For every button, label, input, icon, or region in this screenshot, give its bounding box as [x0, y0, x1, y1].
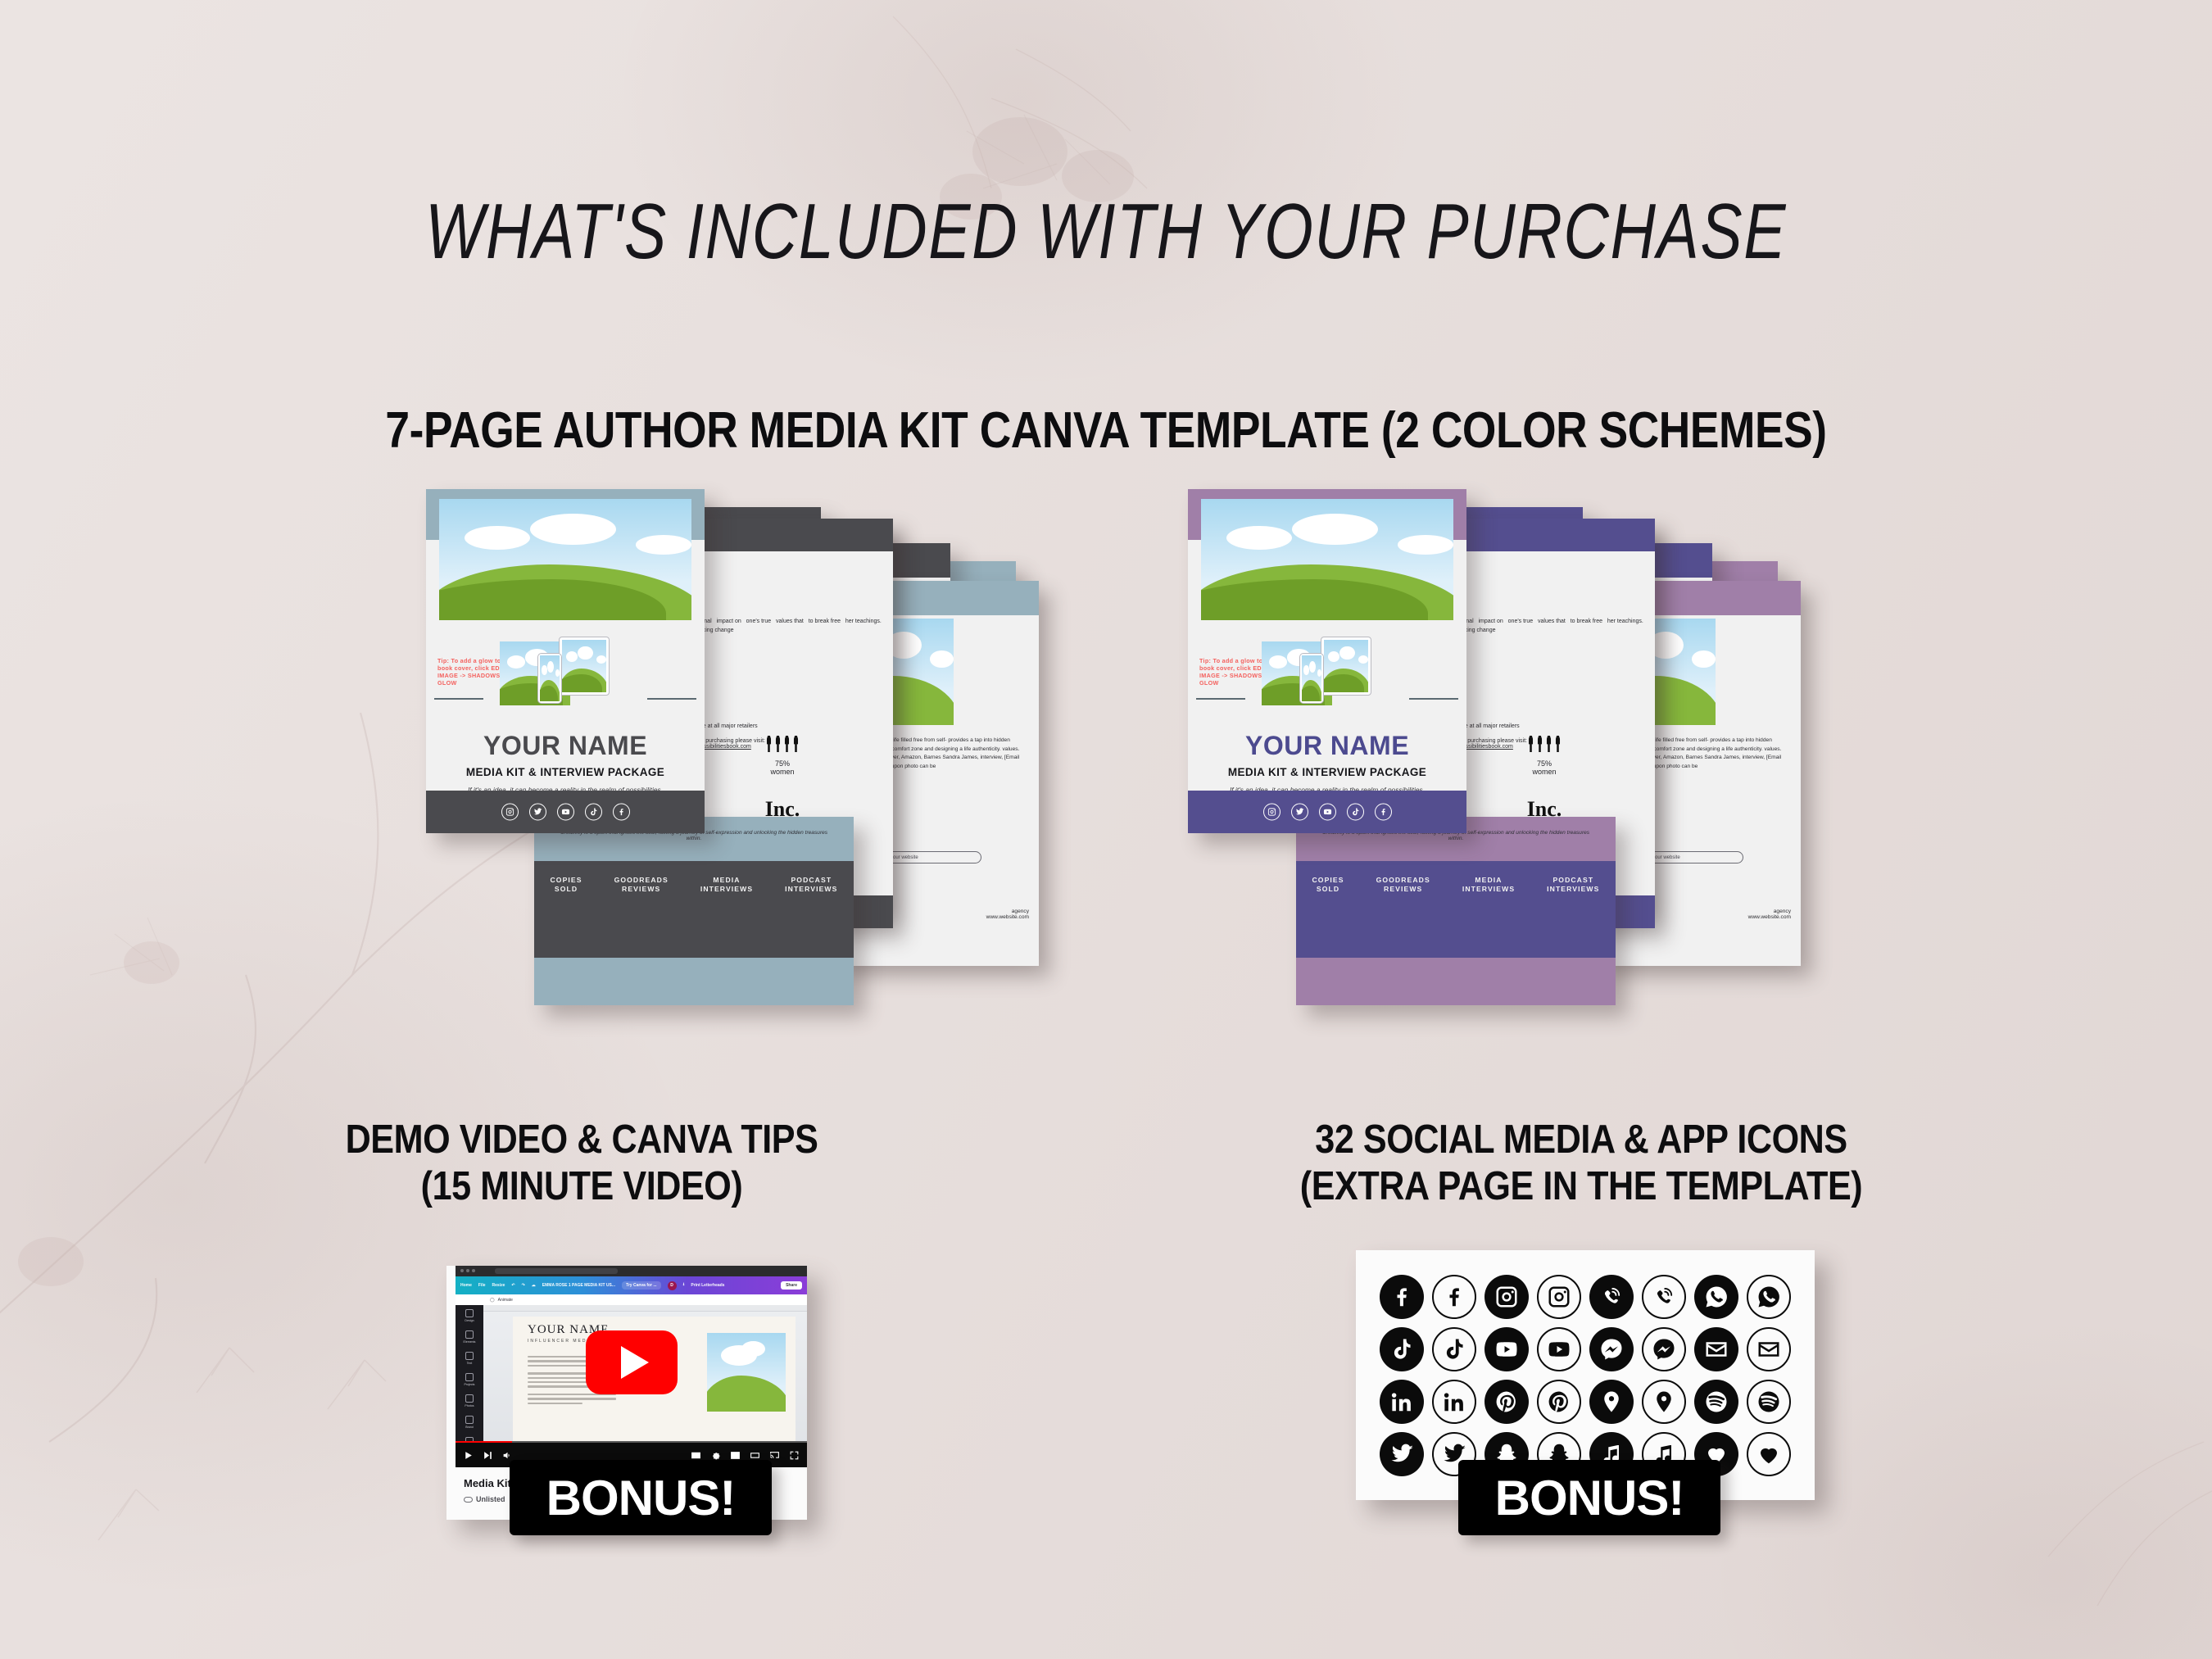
icons-heading-line2: (EXTRA PAGE IN THE TEMPLATE): [1156, 1163, 2006, 1210]
social-links-row: [426, 804, 705, 821]
social-links-row: [1188, 804, 1466, 821]
location-pin-icon[interactable]: [1586, 1376, 1637, 1427]
canva-sidebar-item[interactable]: Projects: [456, 1369, 483, 1390]
spotify-icon[interactable]: [1691, 1376, 1742, 1427]
page-title: WHAT'S INCLUDED WITH YOUR PURCHASE: [221, 193, 1991, 271]
template-cover-page[interactable]: Tip: To add a glow to your book cover, c…: [426, 489, 705, 833]
video-visibility-label: Unlisted: [476, 1495, 505, 1503]
linkedin-icon[interactable]: [1376, 1376, 1427, 1427]
canva-animate-icon: ◯: [490, 1298, 495, 1303]
demo-video-section-heading: DEMO VIDEO & CANVA TIPS (15 MINUTE VIDEO…: [200, 1117, 964, 1210]
canva-animate-bar: ◯ Animate: [456, 1294, 807, 1305]
demographic-figures: [765, 736, 800, 752]
twitter-icon[interactable]: [1376, 1429, 1427, 1480]
messenger-icon[interactable]: [1639, 1324, 1689, 1375]
fullscreen-icon: [789, 1450, 800, 1461]
stat-item: GOODREADSREVIEWS: [1376, 876, 1430, 894]
viber-icon[interactable]: [1639, 1271, 1689, 1322]
canva-animate-label[interactable]: Animate: [498, 1298, 513, 1303]
instagram-icon[interactable]: [501, 804, 519, 821]
stat-item: COPIESSOLD: [551, 876, 582, 894]
canva-file-button[interactable]: File: [478, 1283, 486, 1288]
landscape-image: [1324, 640, 1368, 692]
bonus-badge-video: BONUS!: [510, 1460, 772, 1535]
tiktok-icon[interactable]: [1376, 1324, 1427, 1375]
linkedin-icon[interactable]: [1429, 1376, 1480, 1427]
canva-toolbar: Home File Resize ↶ ↷ ☁ EMMA ROSE 1 PAGE …: [456, 1276, 807, 1294]
device-mockups: [1262, 637, 1393, 710]
canva-try-pro-button[interactable]: Try Canva for ...: [622, 1281, 661, 1290]
canva-undo-icon[interactable]: ↶: [511, 1283, 514, 1288]
stats-labels: COPIESSOLDGOODREADSREVIEWSMEDIAINTERVIEW…: [1296, 876, 1616, 894]
retailers-line: available at all major retailers: [683, 723, 882, 729]
landscape-image: [1302, 655, 1321, 701]
templates-section-heading: 7-PAGE AUTHOR MEDIA KIT CANVA TEMPLATE (…: [155, 406, 2057, 456]
email-icon[interactable]: [1743, 1324, 1794, 1375]
canva-sidebar-item[interactable]: Text: [456, 1348, 483, 1369]
canva-design-image: [707, 1333, 786, 1412]
cover-author-name: YOUR NAME: [426, 731, 705, 761]
template-stack-blue-grey[interactable]: ABOUT THE AUTHORis an influential author…: [426, 489, 1049, 1054]
press-body-text: of personal impact on one's true values …: [683, 617, 882, 635]
cast-icon: [769, 1450, 780, 1461]
youtube-icon[interactable]: [1319, 804, 1336, 821]
canva-ruler: [483, 1305, 807, 1312]
whatsapp-icon[interactable]: [1691, 1271, 1742, 1322]
canva-download-icon[interactable]: ⭳: [683, 1282, 685, 1289]
play-icon: [463, 1450, 474, 1461]
facebook-icon[interactable]: [613, 804, 630, 821]
facebook-icon[interactable]: [1429, 1271, 1480, 1322]
tiktok-icon[interactable]: [1347, 804, 1364, 821]
demographic-percent: 75%women: [672, 759, 893, 776]
browser-url-bar: [456, 1266, 807, 1276]
youtube-icon[interactable]: [557, 804, 574, 821]
landscape-image: [540, 655, 560, 701]
bonus-badge-icons: BONUS!: [1458, 1460, 1720, 1535]
miniplayer-icon: [730, 1450, 741, 1461]
stat-item: GOODREADSREVIEWS: [614, 876, 669, 894]
demo-video-heading-line2: (15 MINUTE VIDEO): [200, 1163, 964, 1210]
tiktok-icon[interactable]: [1429, 1324, 1480, 1375]
template-page-stats[interactable]: COPIESSOLDGOODREADSREVIEWSMEDIAINTERVIEW…: [534, 817, 854, 1005]
icon-grid: [1376, 1271, 1794, 1480]
instagram-icon[interactable]: [1534, 1271, 1584, 1322]
tiktok-icon[interactable]: [585, 804, 602, 821]
icons-heading-line1: 32 SOCIAL MEDIA & APP ICONS: [1156, 1117, 2006, 1163]
contact-block: agencywww.website.com: [986, 909, 1029, 920]
twitter-icon[interactable]: [1291, 804, 1308, 821]
cover-kit-line: MEDIA KIT & INTERVIEW PACKAGE: [1188, 766, 1466, 778]
demographic-percent: 75%women: [1434, 759, 1655, 776]
press-body-text: of personal impact on one's true values …: [1445, 617, 1643, 635]
instagram-icon[interactable]: [1263, 804, 1281, 821]
youtube-play-icon[interactable]: [586, 1330, 678, 1394]
volume-icon: [502, 1450, 513, 1461]
whatsapp-icon[interactable]: [1743, 1271, 1794, 1322]
stats-labels: COPIESSOLDGOODREADSREVIEWSMEDIAINTERVIEW…: [534, 876, 854, 894]
canva-print-label[interactable]: Print Letterheads: [691, 1283, 724, 1288]
heart-icon[interactable]: [1743, 1429, 1794, 1480]
stat-item: MEDIAINTERVIEWS: [700, 876, 753, 894]
spotify-icon[interactable]: [1743, 1376, 1794, 1427]
facebook-icon[interactable]: [1375, 804, 1392, 821]
icons-section-heading: 32 SOCIAL MEDIA & APP ICONS (EXTRA PAGE …: [1156, 1117, 2006, 1210]
settings-icon: [710, 1450, 721, 1461]
contact-block: agencywww.website.com: [1748, 909, 1791, 920]
canva-document-title[interactable]: EMMA ROSE 1 PAGE MEDIA KIT US...: [542, 1283, 615, 1288]
canva-avatar[interactable]: D: [668, 1281, 677, 1290]
stat-item: MEDIAINTERVIEWS: [1462, 876, 1515, 894]
viber-icon[interactable]: [1586, 1271, 1637, 1322]
cover-author-name: YOUR NAME: [1188, 731, 1466, 761]
canva-redo-icon[interactable]: ↷: [522, 1283, 525, 1288]
twitter-icon[interactable]: [529, 804, 546, 821]
location-pin-icon[interactable]: [1639, 1376, 1689, 1427]
landscape-image: [562, 640, 606, 692]
canva-sidebar-item[interactable]: Elements: [456, 1326, 483, 1348]
template-cover-page[interactable]: Tip: To add a glow to your book cover, c…: [1188, 489, 1466, 833]
pinterest-icon[interactable]: [1481, 1376, 1532, 1427]
messenger-icon[interactable]: [1586, 1324, 1637, 1375]
canva-sidebar-item[interactable]: Brand: [456, 1412, 483, 1433]
template-stack-purple[interactable]: ABOUT THE AUTHORis an influential author…: [1188, 489, 1811, 1054]
youtube-icon[interactable]: [1481, 1324, 1532, 1375]
template-page-stats[interactable]: COPIESSOLDGOODREADSREVIEWSMEDIAINTERVIEW…: [1296, 817, 1616, 1005]
theater-icon: [750, 1450, 760, 1461]
cover-kit-line: MEDIA KIT & INTERVIEW PACKAGE: [426, 766, 705, 778]
video-player-frame[interactable]: Home File Resize ↶ ↷ ☁ EMMA ROSE 1 PAGE …: [456, 1266, 807, 1467]
email-icon[interactable]: [1691, 1324, 1742, 1375]
canva-cloud-icon: ☁: [532, 1283, 536, 1288]
youtube-icon[interactable]: [1534, 1324, 1584, 1375]
stat-item: PODCASTINTERVIEWS: [785, 876, 837, 894]
instagram-icon[interactable]: [1481, 1271, 1532, 1322]
demo-video-heading-line1: DEMO VIDEO & CANVA TIPS: [200, 1117, 964, 1163]
canva-home-button[interactable]: Home: [460, 1283, 472, 1288]
canva-resize-button[interactable]: Resize: [492, 1283, 505, 1288]
device-mockups: [500, 637, 631, 710]
website-field[interactable]: your website: [1645, 851, 1743, 863]
canva-sidebar-item[interactable]: Photos: [456, 1390, 483, 1412]
stat-item: PODCASTINTERVIEWS: [1547, 876, 1599, 894]
subtitles-icon: [691, 1450, 701, 1461]
next-icon: [483, 1450, 493, 1461]
canva-sidebar-item[interactable]: Design: [456, 1305, 483, 1326]
facebook-icon[interactable]: [1376, 1271, 1427, 1322]
landscape-image: [1201, 499, 1453, 620]
pinterest-icon[interactable]: [1534, 1376, 1584, 1427]
demographic-figures: [1527, 736, 1562, 752]
stat-item: COPIESSOLD: [1312, 876, 1344, 894]
landscape-image: [439, 499, 691, 620]
unlisted-eye-icon: [464, 1497, 473, 1503]
canva-share-button[interactable]: Share: [781, 1281, 802, 1290]
website-field[interactable]: your website: [883, 851, 981, 863]
retailers-line: available at all major retailers: [1445, 723, 1643, 729]
